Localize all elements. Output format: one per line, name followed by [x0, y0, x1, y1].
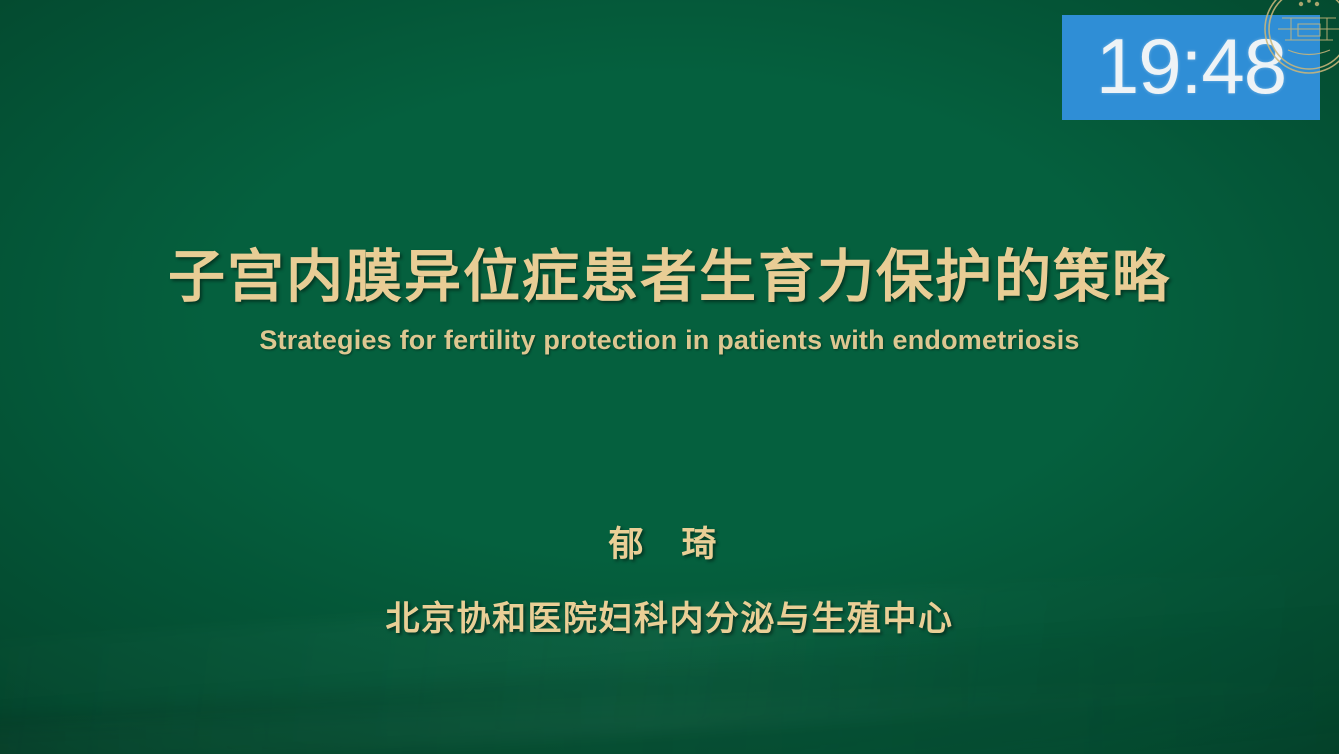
- page-subtitle: Strategies for fertility protection in p…: [0, 325, 1339, 356]
- title-block: 子宫内膜异位症患者生育力保护的策略 Strategies for fertili…: [0, 246, 1339, 356]
- presentation-slide: 19:48 子宫内膜异位症患者生育力保护的策略 St: [0, 0, 1339, 754]
- presenter-block: 郁 琦 北京协和医院妇科内分泌与生殖中心: [0, 516, 1339, 640]
- countdown-timer-value: 19:48: [1096, 27, 1286, 105]
- countdown-timer-box[interactable]: 19:48: [1062, 15, 1320, 120]
- presenter-affiliation: 北京协和医院妇科内分泌与生殖中心: [0, 591, 1339, 640]
- background-ribbon-lower: [0, 667, 1339, 754]
- presenter-name: 郁 琦: [0, 516, 1339, 567]
- page-title: 子宫内膜异位症患者生育力保护的策略: [0, 246, 1339, 310]
